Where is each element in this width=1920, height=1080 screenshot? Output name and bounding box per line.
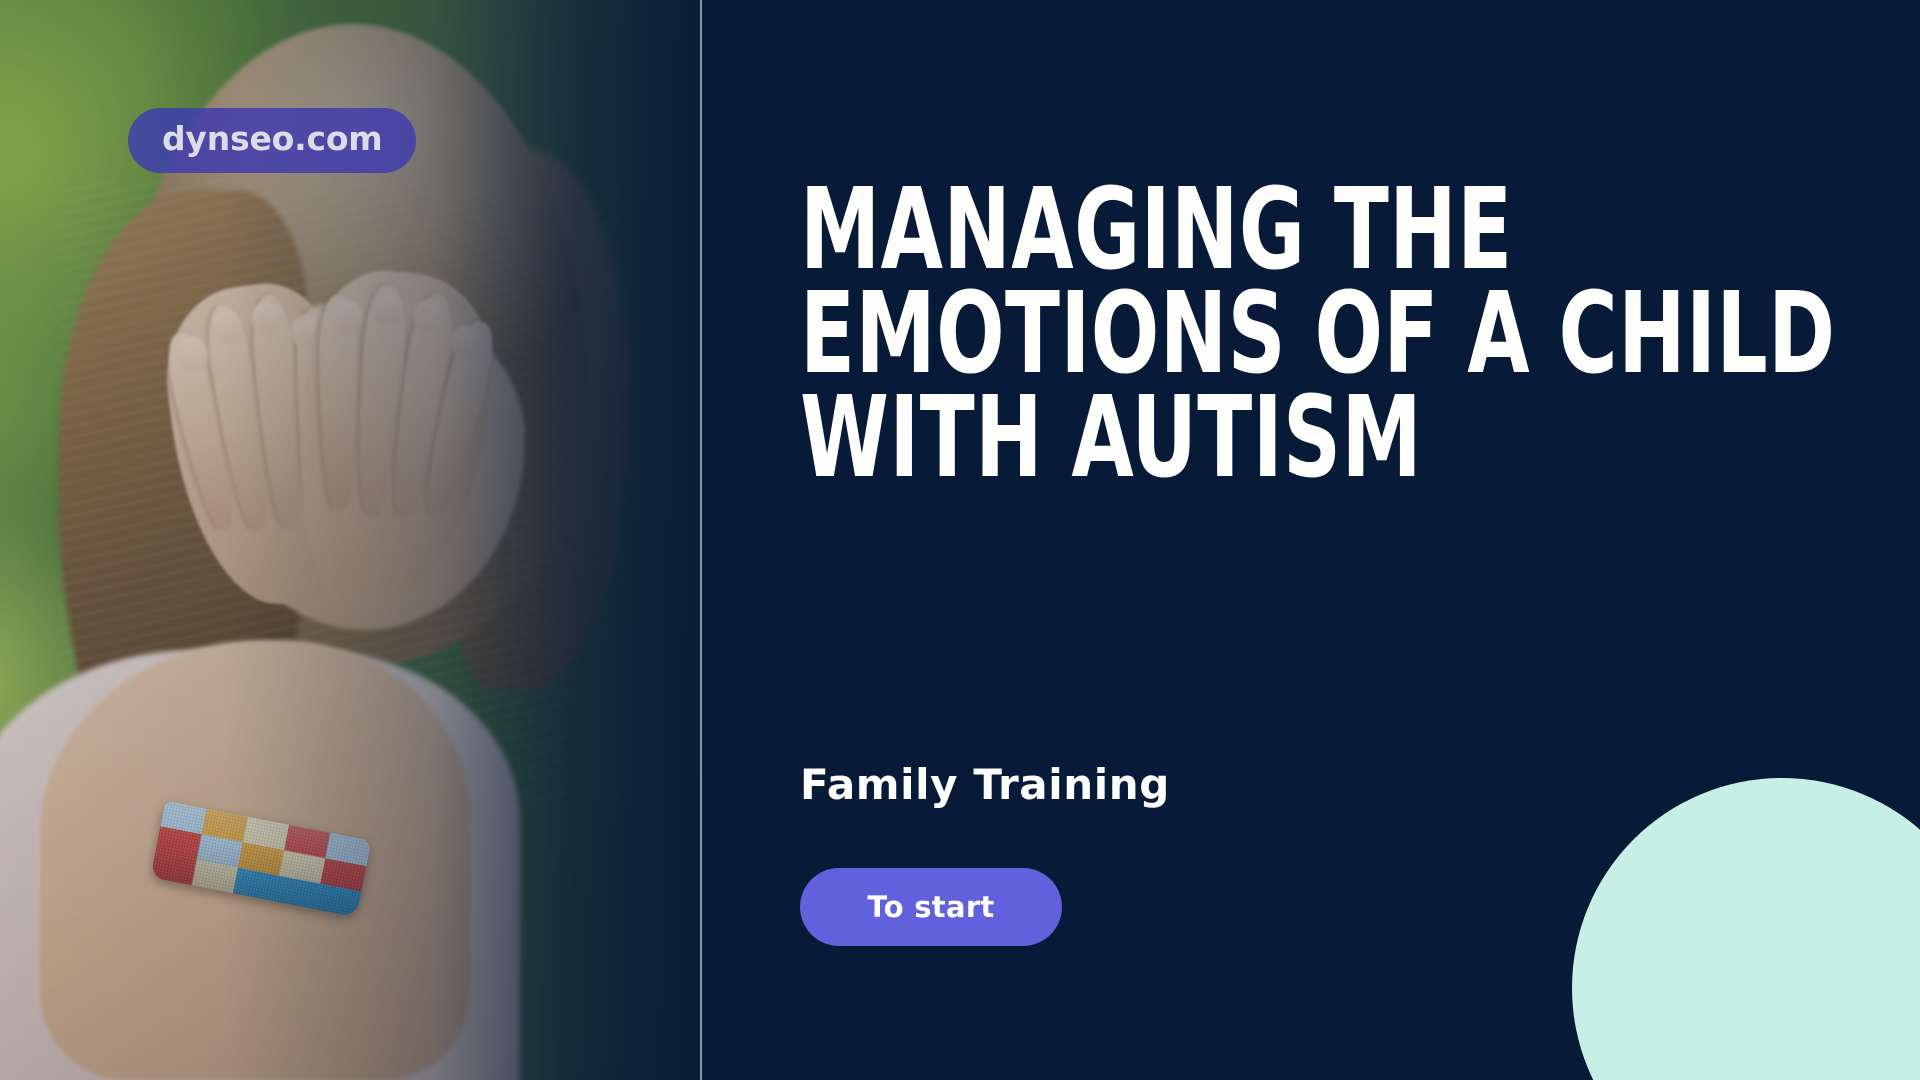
subtitle: Family Training — [800, 760, 1170, 809]
hero-photo-panel: dynseo.com — [0, 0, 700, 1080]
dynseo-watermark-badge[interactable]: dynseo.com — [128, 108, 416, 173]
page-title: MANAGING THE EMOTIONS OF A CHILD WITH AU… — [800, 178, 1600, 490]
headline-line-1: MANAGING THE — [800, 178, 1600, 282]
mint-decorative-circle — [1572, 778, 1920, 1080]
headline-line-3: WITH AUTISM — [800, 386, 1600, 490]
headline-line-2: EMOTIONS OF A CHILD — [800, 282, 1600, 386]
content-panel: MANAGING THE EMOTIONS OF A CHILD WITH AU… — [702, 0, 1920, 1080]
to-start-button[interactable]: To start — [800, 868, 1062, 946]
slide-root: dynseo.com MANAGING THE EMOTIONS OF A CH… — [0, 0, 1920, 1080]
dynseo-watermark-label: dynseo.com — [162, 122, 382, 155]
